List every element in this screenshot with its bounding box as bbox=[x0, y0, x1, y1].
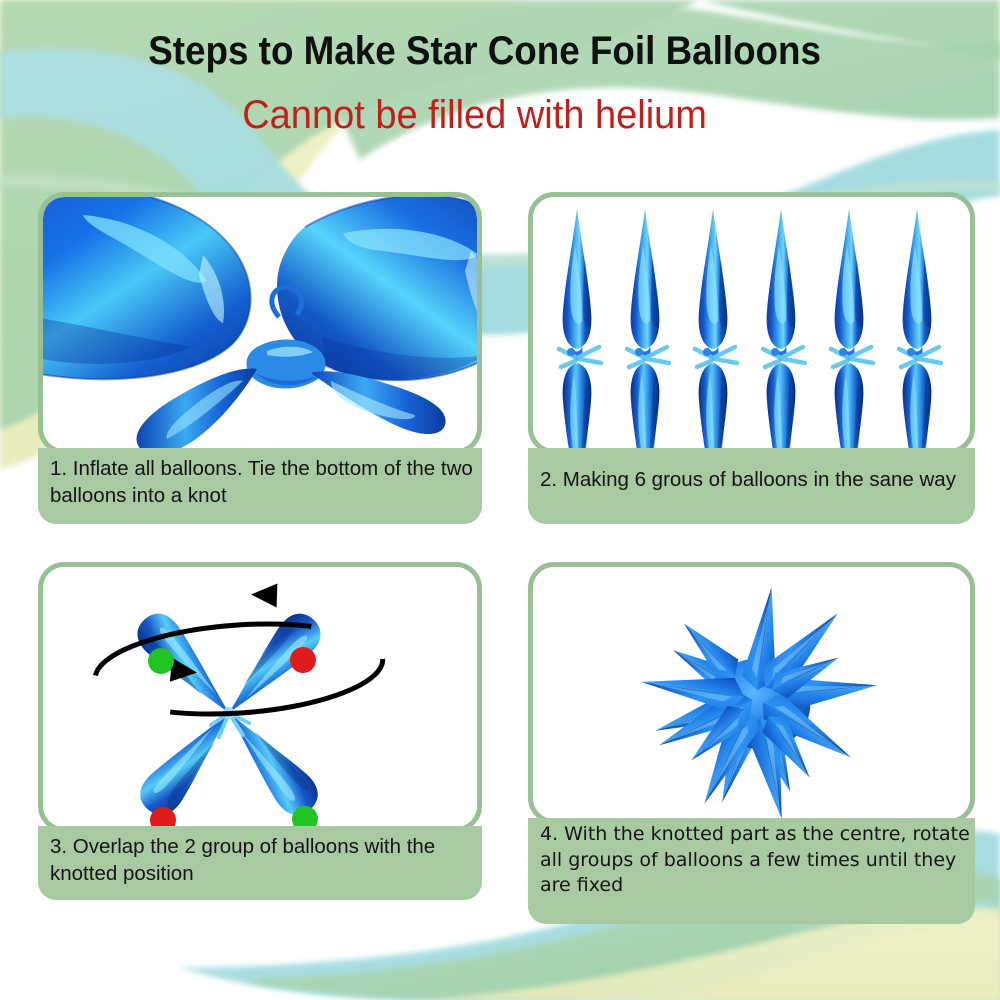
step-4-caption-line-3: are fixed bbox=[540, 873, 965, 899]
step-2-frame bbox=[528, 192, 975, 454]
wave-yellow-bottom bbox=[560, 918, 1000, 1000]
subtitle-block: Cannot be filled with helium Cannot be f… bbox=[0, 92, 950, 156]
six-pairs-of-cone-balloons-illustration bbox=[533, 197, 970, 449]
step-4-caption-line-2: all groups of balloons a few times until… bbox=[540, 848, 965, 874]
page-title-reflection: Steps to Make Star Cone Foil Balloons bbox=[0, 74, 970, 92]
step-1-frame bbox=[38, 192, 482, 454]
step-3-caption-line-2: knotted position bbox=[50, 860, 472, 887]
step-1-caption-line-2: balloons into a knot bbox=[50, 482, 472, 509]
step-1-caption: 1. Inflate all balloons. Tie the bottom … bbox=[38, 448, 482, 524]
step-3-frame bbox=[38, 562, 482, 832]
balloon-tail-right bbox=[311, 371, 446, 434]
marker-dot-red-upper-right bbox=[290, 647, 316, 673]
step-card-4: 4. With the knotted part as the centre, … bbox=[528, 562, 975, 924]
balloon-tail-left bbox=[137, 368, 257, 449]
page-subtitle: Cannot be filled with helium bbox=[243, 92, 708, 138]
step-2-media bbox=[533, 197, 970, 449]
step-3-media bbox=[43, 567, 477, 827]
step-card-1: 1. Inflate all balloons. Tie the bottom … bbox=[38, 192, 482, 524]
knot bbox=[247, 340, 326, 389]
balloon-pair-1 bbox=[559, 209, 601, 449]
step-card-2: 2. Making 6 grous of balloons in the san… bbox=[528, 192, 975, 524]
balloon-left bbox=[43, 197, 251, 379]
step-card-3: 3. Overlap the 2 group of balloons with … bbox=[38, 562, 482, 900]
step-4-media bbox=[533, 567, 970, 819]
balloon-pair-6 bbox=[899, 209, 941, 449]
balloon-pair-3 bbox=[695, 209, 737, 449]
step-3-caption: 3. Overlap the 2 group of balloons with … bbox=[38, 826, 482, 900]
step-2-caption-line-1: 2. Making 6 grous of balloons in the san… bbox=[540, 466, 965, 493]
step-4-caption-line-1: 4. With the knotted part as the centre, … bbox=[540, 822, 965, 848]
page-title: Steps to Make Star Cone Foil Balloons bbox=[149, 28, 822, 74]
step-1-media bbox=[43, 197, 477, 449]
step-1-caption-line-1: 1. Inflate all balloons. Tie the bottom … bbox=[50, 455, 472, 482]
step-4-caption: 4. With the knotted part as the centre, … bbox=[528, 818, 975, 924]
title-block: Steps to Make Star Cone Foil Balloons St… bbox=[0, 28, 970, 92]
marker-dot-green-upper-left bbox=[148, 648, 174, 674]
step-2-caption: 2. Making 6 grous of balloons in the san… bbox=[528, 448, 975, 524]
rotation-ellipse bbox=[92, 615, 385, 723]
two-inflated-star-balloons-tied-knot-illustration bbox=[43, 197, 477, 449]
step-3-caption-line-1: 3. Overlap the 2 group of balloons with … bbox=[50, 833, 472, 860]
step-4-frame bbox=[528, 562, 975, 824]
balloon-pair-2 bbox=[627, 209, 669, 449]
balloon-pair-4 bbox=[763, 209, 805, 449]
infographic-page: Steps to Make Star Cone Foil Balloons St… bbox=[0, 0, 1000, 1000]
rotation-arrow-top bbox=[251, 583, 278, 608]
page-subtitle-reflection: Cannot be filled with helium bbox=[0, 138, 950, 156]
finished-star-cone-balloon-illustration bbox=[533, 567, 970, 819]
header: Steps to Make Star Cone Foil Balloons St… bbox=[0, 0, 1000, 175]
overlapped-balloon-groups-illustration bbox=[43, 567, 477, 827]
balloon-pair-5 bbox=[831, 209, 873, 449]
